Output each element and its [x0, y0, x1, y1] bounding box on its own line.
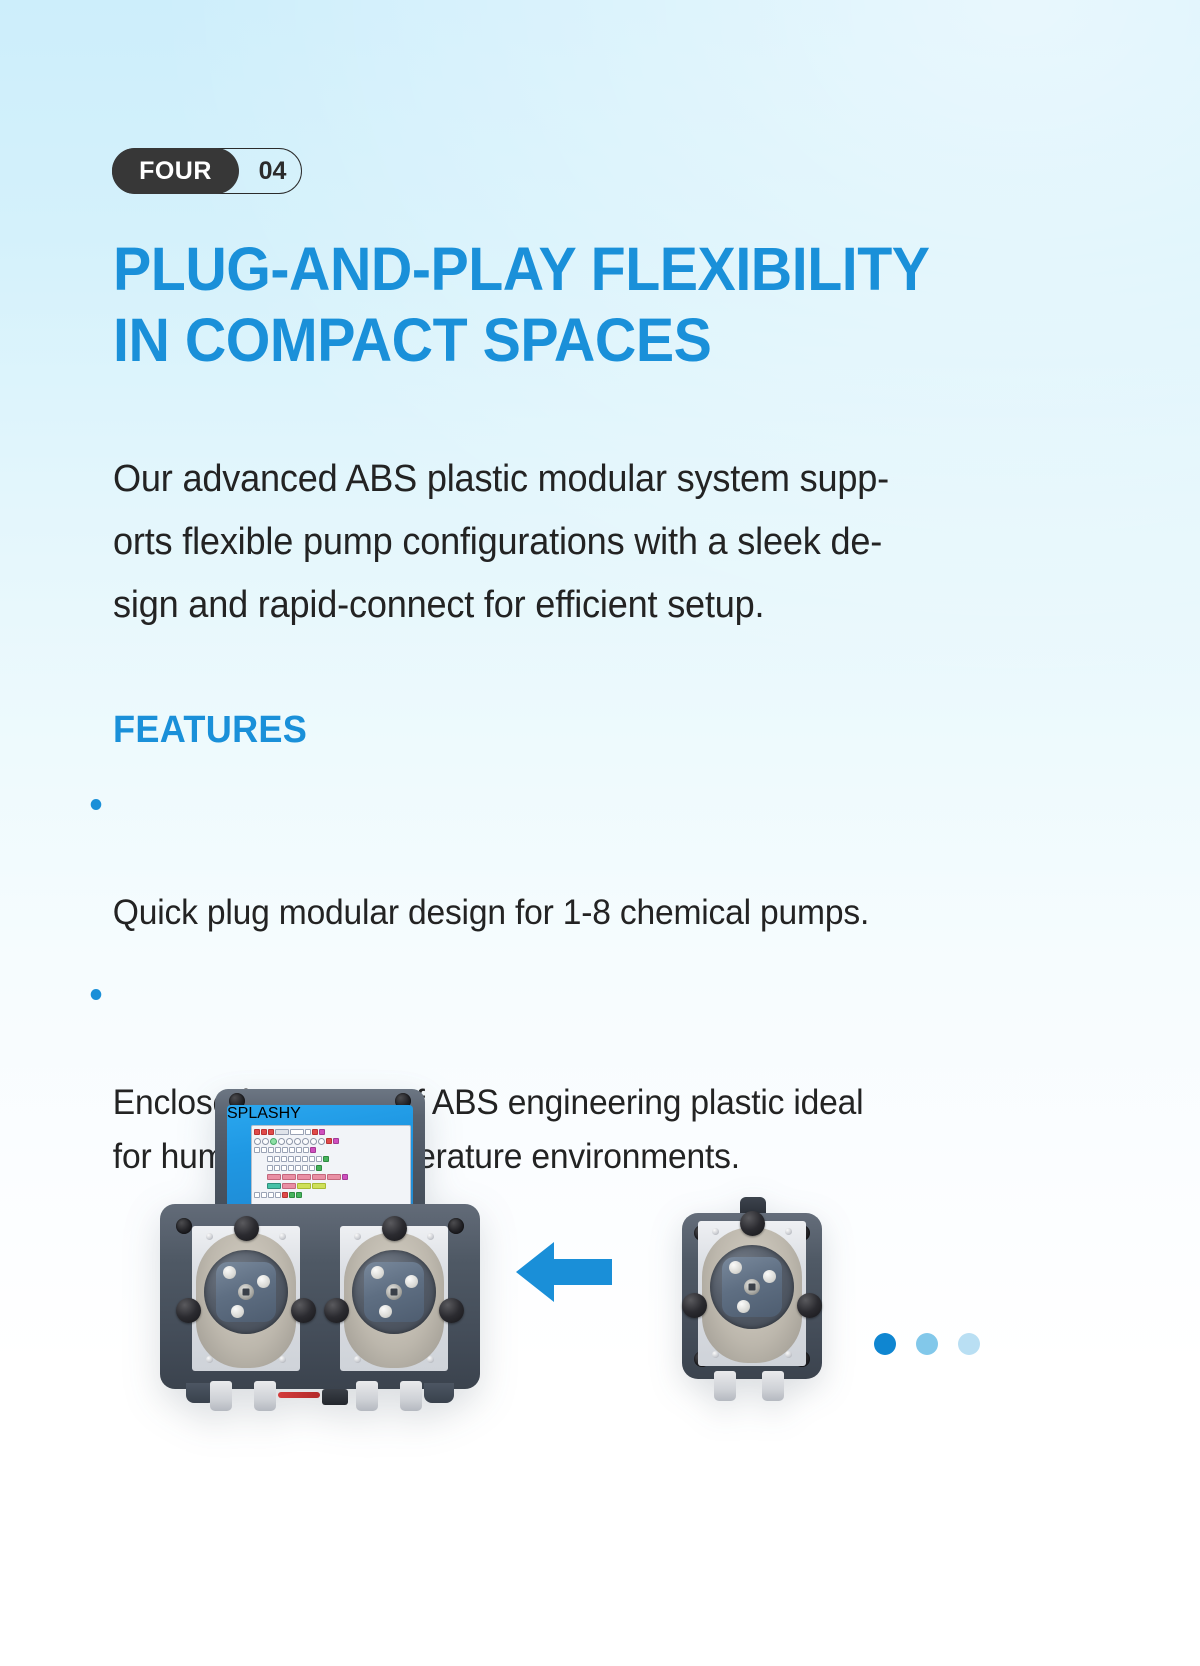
- thumb-knob-icon: [439, 1298, 464, 1323]
- roller-icon: [737, 1300, 750, 1313]
- thumb-knob-icon: [740, 1211, 765, 1236]
- lcd-chip: [303, 1147, 309, 1153]
- screw-icon: [354, 1233, 361, 1240]
- features-heading: FEATURES: [113, 707, 307, 753]
- lcd-chip: [274, 1165, 280, 1171]
- lcd-chip: [333, 1138, 339, 1144]
- tube-fitting-icon: [400, 1381, 422, 1411]
- lcd-chip: [323, 1156, 329, 1162]
- screw-icon: [427, 1356, 434, 1363]
- thumb-knob-icon: [382, 1216, 407, 1241]
- screw-icon: [279, 1356, 286, 1363]
- intro-paragraph: Our advanced ABS plastic modular system …: [113, 448, 1016, 637]
- lcd-indicator: [262, 1138, 269, 1145]
- tube-fitting-icon: [714, 1371, 736, 1401]
- screw-icon: [785, 1228, 792, 1235]
- badge-number: 04: [239, 148, 302, 194]
- badge-label: FOUR: [139, 159, 212, 184]
- tube-fitting-icon: [210, 1381, 232, 1411]
- lcd-chip: [302, 1156, 308, 1162]
- mount-foot: [424, 1383, 454, 1403]
- pump-rotor: [722, 1257, 782, 1317]
- thumb-knob-icon: [682, 1293, 707, 1318]
- lcd-button: [297, 1183, 311, 1189]
- rotor-hub: [238, 1284, 254, 1300]
- brand-logo: SPLASHY: [227, 1105, 413, 1123]
- lcd-chip: [310, 1147, 316, 1153]
- section-badge: FOUR 04: [112, 148, 302, 194]
- lcd-row: [254, 1155, 408, 1163]
- lcd-chip: [312, 1129, 318, 1135]
- tube-fitting-icon: [254, 1381, 276, 1411]
- thumb-knob-icon: [797, 1293, 822, 1318]
- page-title: PLUG-AND-PLAY FLEXIBILITY IN COMPACT SPA…: [113, 234, 1015, 376]
- lcd-chip: [326, 1138, 332, 1144]
- lcd-button: [282, 1183, 296, 1189]
- pump-head-module: [690, 1221, 814, 1371]
- lcd-indicator: [318, 1138, 325, 1145]
- lcd-chip: [267, 1174, 281, 1180]
- lcd-chip: [261, 1129, 267, 1135]
- product-illustration: SPLASHY: [0, 1065, 1200, 1425]
- lcd-chip: [342, 1174, 348, 1180]
- lcd-row: [254, 1128, 408, 1136]
- lcd-chip: [267, 1165, 273, 1171]
- lcd-row: [254, 1173, 408, 1181]
- lcd-row: [254, 1191, 408, 1199]
- brand-name: SPLASHY: [227, 1105, 301, 1122]
- bullet-icon: [91, 989, 102, 1000]
- lcd-chip: [316, 1156, 322, 1162]
- lcd-chip: [268, 1147, 274, 1153]
- pump-rotor-housing: [710, 1245, 794, 1329]
- lcd-chip: [297, 1174, 311, 1180]
- screw-icon: [279, 1233, 286, 1240]
- left-arrow-icon: [516, 1238, 612, 1306]
- lcd-indicator: [254, 1138, 261, 1145]
- lcd-chip: [274, 1156, 280, 1162]
- dual-pump-unit-image: SPLASHY: [160, 1089, 480, 1407]
- lcd-row: [254, 1164, 408, 1172]
- feature-text: Quick plug modular design for 1-8 chemic…: [113, 893, 869, 932]
- lcd-indicator: [302, 1138, 309, 1145]
- lcd-chip: [268, 1129, 274, 1135]
- thumb-knob-icon: [176, 1298, 201, 1323]
- lcd-chip: [296, 1147, 302, 1153]
- lcd-chip: [275, 1192, 281, 1198]
- pagination-dot-3[interactable]: [958, 1333, 980, 1355]
- lcd-chip: [275, 1147, 281, 1153]
- lcd-chip: [295, 1156, 301, 1162]
- single-pump-body: [682, 1213, 822, 1379]
- screw-icon: [712, 1228, 719, 1235]
- lcd-chip: [282, 1192, 288, 1198]
- lcd-chip: [327, 1174, 341, 1180]
- tube-fitting-icon: [762, 1371, 784, 1401]
- lcd-chip: [288, 1165, 294, 1171]
- roller-icon: [729, 1261, 742, 1274]
- lcd-chip: [281, 1165, 287, 1171]
- rotor-hub: [386, 1284, 402, 1300]
- tube-fitting-icon: [356, 1381, 378, 1411]
- lcd-indicator: [286, 1138, 293, 1145]
- roller-icon: [405, 1275, 418, 1288]
- lcd-chip: [295, 1165, 301, 1171]
- lcd-chip: [288, 1156, 294, 1162]
- roller-icon: [379, 1305, 392, 1318]
- lcd-chip: [261, 1147, 267, 1153]
- lcd-chip: [319, 1129, 325, 1135]
- lcd-button: [312, 1183, 326, 1189]
- pump-rotor: [364, 1262, 424, 1322]
- lcd-chip: [312, 1174, 326, 1180]
- pagination-dot-2[interactable]: [916, 1333, 938, 1355]
- lcd-chip: [268, 1192, 274, 1198]
- roller-icon: [763, 1270, 776, 1283]
- lcd-chip: [302, 1165, 308, 1171]
- lcd-chip: [296, 1192, 302, 1198]
- pump-head-module: [184, 1226, 308, 1376]
- roller-icon: [257, 1275, 270, 1288]
- roller-icon: [223, 1266, 236, 1279]
- lcd-chip: [316, 1165, 322, 1171]
- lcd-chip: [290, 1129, 304, 1135]
- lcd-chip: [261, 1192, 267, 1198]
- power-wire: [278, 1392, 320, 1398]
- lcd-chip: [309, 1156, 315, 1162]
- pump-rotor: [216, 1262, 276, 1322]
- lcd-chip: [309, 1165, 315, 1171]
- lcd-chip: [289, 1147, 295, 1153]
- thumb-knob-icon: [324, 1298, 349, 1323]
- controller-housing: SPLASHY: [215, 1089, 425, 1211]
- dual-pump-body: [160, 1204, 480, 1389]
- screw-icon: [785, 1351, 792, 1358]
- list-item: Quick plug modular design for 1-8 chemic…: [84, 778, 1034, 940]
- pump-rotor-housing: [352, 1250, 436, 1334]
- lcd-button: [267, 1183, 281, 1189]
- lcd-row: [254, 1137, 408, 1145]
- lcd-indicator: [278, 1138, 285, 1145]
- bullet-icon: [91, 799, 102, 810]
- connector-plug: [322, 1389, 348, 1405]
- pump-rotor-housing: [204, 1250, 288, 1334]
- lcd-indicator: [310, 1138, 317, 1145]
- lcd-row: [254, 1182, 408, 1190]
- screw-icon: [206, 1233, 213, 1240]
- rotor-hub: [744, 1279, 760, 1295]
- lcd-chip: [254, 1192, 260, 1198]
- lcd-chip: [282, 1174, 296, 1180]
- lcd-chip: [275, 1129, 289, 1135]
- controller-lcd-screen: [251, 1125, 411, 1209]
- lcd-indicator: [270, 1138, 277, 1145]
- pagination-dot-1[interactable]: [874, 1333, 896, 1355]
- badge-pill: FOUR: [112, 148, 239, 194]
- pump-head-module: [332, 1226, 456, 1376]
- roller-icon: [371, 1266, 384, 1279]
- roller-icon: [231, 1305, 244, 1318]
- controller-faceplate: SPLASHY: [227, 1105, 413, 1219]
- lcd-chip: [282, 1147, 288, 1153]
- pagination-dots[interactable]: [874, 1333, 980, 1355]
- lcd-indicator: [294, 1138, 301, 1145]
- thumb-knob-icon: [291, 1298, 316, 1323]
- slide-page: FOUR 04 PLUG-AND-PLAY FLEXIBILITY IN COM…: [0, 0, 1200, 1666]
- lcd-chip: [281, 1156, 287, 1162]
- lcd-chip: [305, 1129, 311, 1135]
- screw-icon: [427, 1233, 434, 1240]
- lcd-row: [254, 1146, 408, 1154]
- thumb-knob-icon: [234, 1216, 259, 1241]
- lcd-chip: [254, 1129, 260, 1135]
- lcd-chip: [289, 1192, 295, 1198]
- lcd-chip: [254, 1147, 260, 1153]
- lcd-chip: [267, 1156, 273, 1162]
- single-pump-unit-image: [682, 1213, 822, 1403]
